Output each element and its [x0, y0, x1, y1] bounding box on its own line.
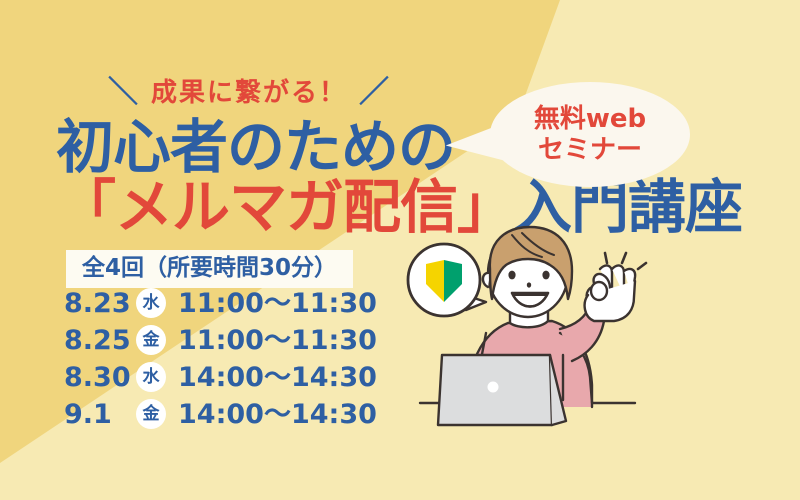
schedule-row: 9.1 金 14:00〜14:30 [64, 399, 377, 429]
webinar-banner: ＼ 成果に繋がる！ ／ 初心者のための 「メルマガ配信」入門講座 全4回（所要時… [0, 0, 800, 500]
schedule-list: 8.23 水 11:00〜11:30 8.25 金 11:00〜11:30 8.… [64, 288, 377, 429]
schedule-date: 8.23 [64, 290, 136, 317]
schedule-row: 8.23 水 11:00〜11:30 [64, 288, 377, 318]
schedule-date: 8.25 [64, 327, 136, 354]
schedule-weekday-badge: 水 [136, 362, 166, 392]
schedule-date: 9.1 [64, 401, 136, 428]
schedule-weekday-badge: 金 [136, 325, 166, 355]
free-webinar-badge: 無料web セミナー [490, 82, 690, 187]
eyebrow-tagline: ＼ 成果に繋がる！ ／ [108, 78, 390, 108]
eyebrow-text: 成果に繋がる！ [151, 80, 347, 106]
schedule-date: 8.30 [64, 364, 136, 391]
slash-right-icon: ／ [359, 78, 390, 108]
schedule-weekday-badge: 水 [136, 288, 166, 318]
session-count-label: 全4回（所要時間30分） [66, 250, 353, 288]
badge-line-1: 無料web [534, 104, 646, 135]
schedule-weekday-badge: 金 [136, 399, 166, 429]
headline-line-1: 初心者のための [56, 118, 455, 176]
slash-left-icon: ＼ [108, 78, 139, 108]
schedule-time: 11:00〜11:30 [178, 327, 377, 354]
schedule-time: 14:00〜14:30 [178, 364, 377, 391]
schedule-time: 14:00〜14:30 [178, 401, 377, 428]
badge-text: 無料web セミナー [490, 82, 690, 187]
badge-line-2: セミナー [538, 135, 642, 166]
schedule-row: 8.30 水 14:00〜14:30 [64, 362, 377, 392]
schedule-row: 8.25 金 11:00〜11:30 [64, 325, 377, 355]
illustration-woman-with-laptop [400, 225, 800, 500]
schedule-time: 11:00〜11:30 [178, 290, 377, 317]
